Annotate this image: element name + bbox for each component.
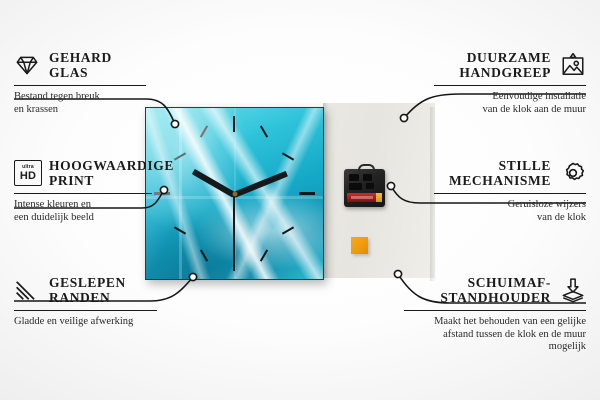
feature-title-line1: HOOGWAARDIGE <box>49 158 174 173</box>
feature-stille-mechanisme[interactable]: STILLE MECHANISME Geruisloze wijzers van… <box>434 158 586 224</box>
foam-spacer-pad <box>351 237 368 254</box>
mechanism-slot-4 <box>366 183 374 189</box>
feature-title: STILLE MECHANISME <box>449 158 551 188</box>
feature-desc-line1: Geruisloze wijzers <box>508 199 586 210</box>
feature-title-line1: SCHUIMAF- <box>468 275 551 290</box>
foam-spacer-icon <box>560 277 586 303</box>
feature-title-line1: STILLE <box>499 158 551 173</box>
clock-tick-9 <box>154 192 170 195</box>
clock-tick-12 <box>233 116 235 132</box>
feature-divider <box>14 85 146 86</box>
feature-divider <box>404 310 586 311</box>
feature-desc-line2: van de klok <box>537 212 586 223</box>
battery-positive-terminal <box>376 193 382 202</box>
feature-desc-line1: Intense kleuren en <box>14 199 91 210</box>
clock-second-hand <box>233 194 235 260</box>
feature-desc-line2: een duidelijk beeld <box>14 212 94 223</box>
ultra-hd-icon-top-label: ultra <box>22 165 34 170</box>
feature-header: GESLEPEN RANDEN <box>14 275 157 305</box>
feature-title-line2: RANDEN <box>49 290 110 305</box>
feature-gehard-glas[interactable]: GEHARD GLAS Bestand tegen breuk en krass… <box>14 50 146 116</box>
wall-clock <box>145 107 324 280</box>
feature-header: STILLE MECHANISME <box>434 158 586 188</box>
gear-icon <box>560 160 586 186</box>
feature-title-line1: DUURZAME <box>467 50 551 65</box>
feature-header: ultra HD HOOGWAARDIGE PRINT <box>14 158 152 188</box>
feature-desc-line2: afstand tussen de klok en de muur mogeli… <box>443 329 586 353</box>
feature-title: HOOGWAARDIGE PRINT <box>49 158 174 188</box>
feature-geslepen-randen[interactable]: GESLEPEN RANDEN Gladde en veilige afwerk… <box>14 275 157 329</box>
feature-desc-line2: van de klok aan de muur <box>482 104 586 115</box>
feature-header: GEHARD GLAS <box>14 50 146 80</box>
feature-desc-line1: Maakt het behouden van een gelijke <box>434 316 586 327</box>
mechanism-slot-3 <box>349 183 362 190</box>
feature-desc-line1: Gladde en veilige afwerking <box>14 316 133 327</box>
feature-description: Eenvoudige installatie van de klok aan d… <box>434 91 586 116</box>
feature-divider <box>14 310 157 311</box>
mechanism-slot-1 <box>349 174 359 181</box>
feature-title-line2: STANDHOUDER <box>440 290 551 305</box>
feature-title-line1: GEHARD <box>49 50 112 65</box>
picture-frame-icon <box>560 52 586 78</box>
feature-header: DUURZAME HANDGREEP <box>434 50 586 80</box>
feature-title: DUURZAME HANDGREEP <box>459 50 551 80</box>
feature-divider <box>434 85 586 86</box>
feature-description: Geruisloze wijzers van de klok <box>434 199 586 224</box>
feature-desc-line1: Eenvoudige installatie <box>492 91 586 102</box>
ultra-hd-icon: ultra HD <box>14 160 40 186</box>
feature-title-line2: PRINT <box>49 173 94 188</box>
feature-schuimafstandhouder[interactable]: SCHUIMAF- STANDHOUDER Maakt het behouden… <box>404 275 586 354</box>
clock-mechanism <box>344 169 385 207</box>
feature-title-line2: HANDGREEP <box>459 65 551 80</box>
feature-desc-line2: en krassen <box>14 104 58 115</box>
infographic-canvas: GEHARD GLAS Bestand tegen breuk en krass… <box>0 0 600 400</box>
mechanism-slot-2 <box>363 174 372 181</box>
feature-title-line2: GLAS <box>49 65 88 80</box>
feature-description: Maakt het behouden van een gelijke afsta… <box>404 316 586 354</box>
feature-title: GESLEPEN RANDEN <box>49 275 126 305</box>
diamond-icon <box>14 52 40 78</box>
feature-description: Intense kleuren en een duidelijk beeld <box>14 199 152 224</box>
feature-desc-line1: Bestand tegen breuk <box>14 91 100 102</box>
clock-tick-3 <box>299 192 315 195</box>
feature-duurzame-handgreep[interactable]: DUURZAME HANDGREEP Eenvoudige installati… <box>434 50 586 116</box>
clock-center-pivot <box>232 191 237 196</box>
battery-label-stripe <box>351 196 373 199</box>
feature-hoogwaardige-print[interactable]: ultra HD HOOGWAARDIGE PRINT Intense kleu… <box>14 158 152 224</box>
feature-title-line2: MECHANISME <box>449 173 551 188</box>
feature-divider <box>14 193 152 194</box>
feature-title: SCHUIMAF- STANDHOUDER <box>440 275 551 305</box>
clock-reflection-line-v1 <box>179 108 182 279</box>
feature-title-line1: GESLEPEN <box>49 275 126 290</box>
product-photo <box>145 103 435 278</box>
mechanism-battery <box>347 193 382 202</box>
mechanism-hanger-icon <box>358 164 375 173</box>
feature-header: SCHUIMAF- STANDHOUDER <box>404 275 586 305</box>
ultra-hd-icon-main-label: HD <box>20 171 36 182</box>
feature-description: Gladde en veilige afwerking <box>14 316 157 329</box>
feature-description: Bestand tegen breuk en krassen <box>14 91 146 116</box>
feature-title: GEHARD GLAS <box>49 50 112 80</box>
feature-divider <box>434 193 586 194</box>
beveled-edges-icon <box>14 277 40 303</box>
